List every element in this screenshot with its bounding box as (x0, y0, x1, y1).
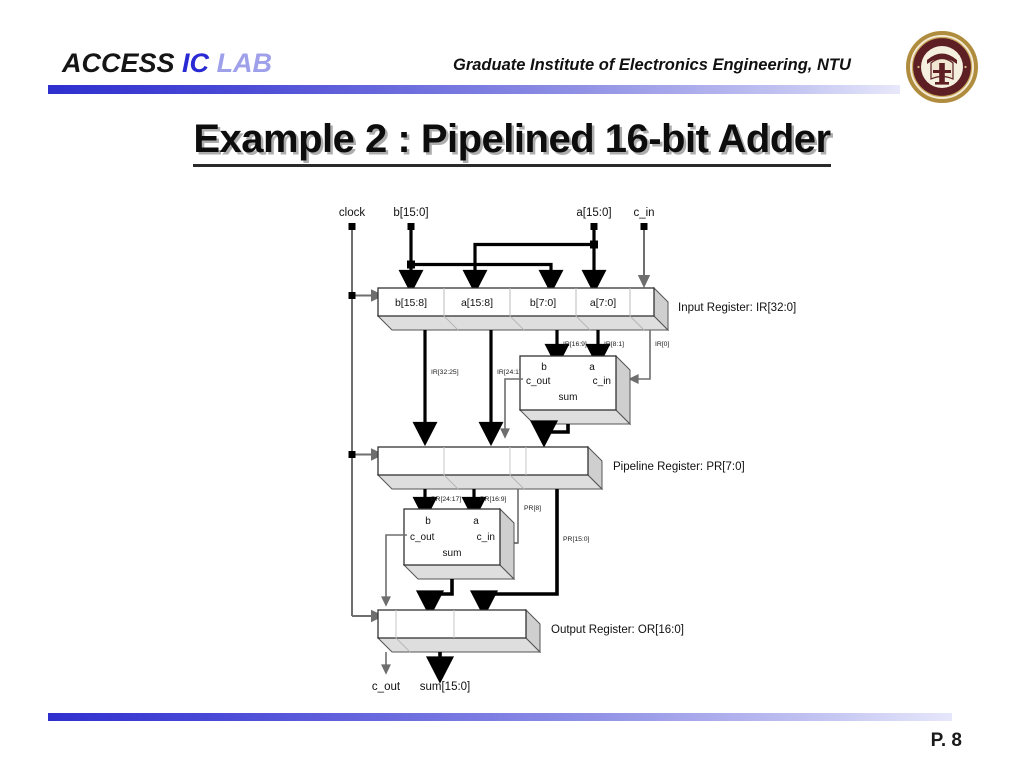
output-register[interactable] (378, 610, 540, 652)
bus-label-ir-32-25: IR[32:25] (431, 369, 459, 376)
adder-upper-port-a: a (589, 362, 595, 373)
adder-upper-port-c-in: c_in (593, 376, 611, 387)
output-register-label: Output Register: OR[16:0] (551, 624, 684, 636)
input-routing-wires (407, 230, 644, 282)
port-c-in: c_in (633, 207, 654, 230)
ir-cell-3: a[7:0] (590, 297, 616, 309)
port-a-in-label: a[15:0] (576, 207, 611, 219)
input-register[interactable]: b[15:8] a[15:8] b[7:0] a[7:0] (378, 288, 668, 330)
bus-label-pr-15-0: PR[15:0] (563, 536, 590, 543)
adder-lower-port-sum: sum (443, 548, 462, 559)
header-divider-bar (48, 85, 900, 94)
ir-cell-0: b[15:8] (395, 297, 427, 309)
bus-label-pr-16-9: PR[16:9] (480, 496, 507, 503)
input-register-label: Input Register: IR[32:0] (678, 302, 796, 314)
logo-word-lab: LAB (217, 48, 273, 78)
pipeline-register[interactable] (378, 447, 602, 489)
bus-label-ir-16-9: IR[16:9] (563, 341, 587, 348)
adder-lower-port-c-in: c_in (477, 532, 495, 543)
port-a-in: a[15:0] (576, 207, 611, 230)
port-clock-label: clock (339, 207, 365, 219)
output-port-c-out-label: c_out (372, 681, 401, 693)
pipeline-register-label: Pipeline Register: PR[7:0] (613, 461, 745, 473)
adder-lower-port-b: b (425, 516, 431, 527)
ir-cell-1: a[15:8] (461, 297, 493, 309)
bus-label-pr-24-17: PR[24:17] (431, 496, 461, 503)
ir-cell-2: b[7:0] (530, 297, 556, 309)
pipelined-adder-diagram: clock b[15:0] a[15:0] c_in (330, 198, 830, 708)
page-title-container: Example 2 : Pipelined 16-bit Adder (0, 117, 1024, 167)
access-ic-lab-logo: ACCESS IC LAB (62, 48, 272, 79)
slide-header: ACCESS IC LAB Graduate Institute of Elec… (0, 0, 1024, 108)
adder-lower[interactable]: b a c_out c_in sum (404, 509, 514, 579)
page-number: P. 8 (931, 730, 962, 752)
logo-word-access: ACCESS (62, 48, 175, 78)
output-wires: c_out sum[15:0] (372, 652, 470, 693)
adder-upper[interactable]: b a c_out c_in sum (520, 356, 630, 424)
bus-label-pr-8: PR[8] (524, 505, 541, 512)
output-port-sum-label: sum[15:0] (420, 681, 471, 693)
adder-upper-port-c-out: c_out (526, 376, 551, 387)
port-clock: clock (339, 207, 365, 230)
bus-label-ir-0: IR[0] (655, 341, 669, 348)
ntu-seal-icon (905, 30, 979, 104)
adder-upper-port-sum: sum (559, 392, 578, 403)
logo-word-ic: IC (182, 48, 209, 78)
bus-label-ir-8-1: IR[8:1] (604, 341, 624, 348)
port-b-in-label: b[15:0] (393, 207, 428, 219)
adder-upper-port-b: b (541, 362, 547, 373)
port-c-in-label: c_in (633, 207, 654, 219)
institute-subtitle: Graduate Institute of Electronics Engine… (453, 56, 851, 75)
adder-lower-port-c-out: c_out (410, 532, 435, 543)
page-title: Example 2 : Pipelined 16-bit Adder (193, 117, 830, 167)
clock-bus (349, 230, 379, 616)
port-b-in: b[15:0] (393, 207, 428, 230)
footer-divider-bar (48, 713, 952, 721)
adder-lower-port-a: a (473, 516, 479, 527)
